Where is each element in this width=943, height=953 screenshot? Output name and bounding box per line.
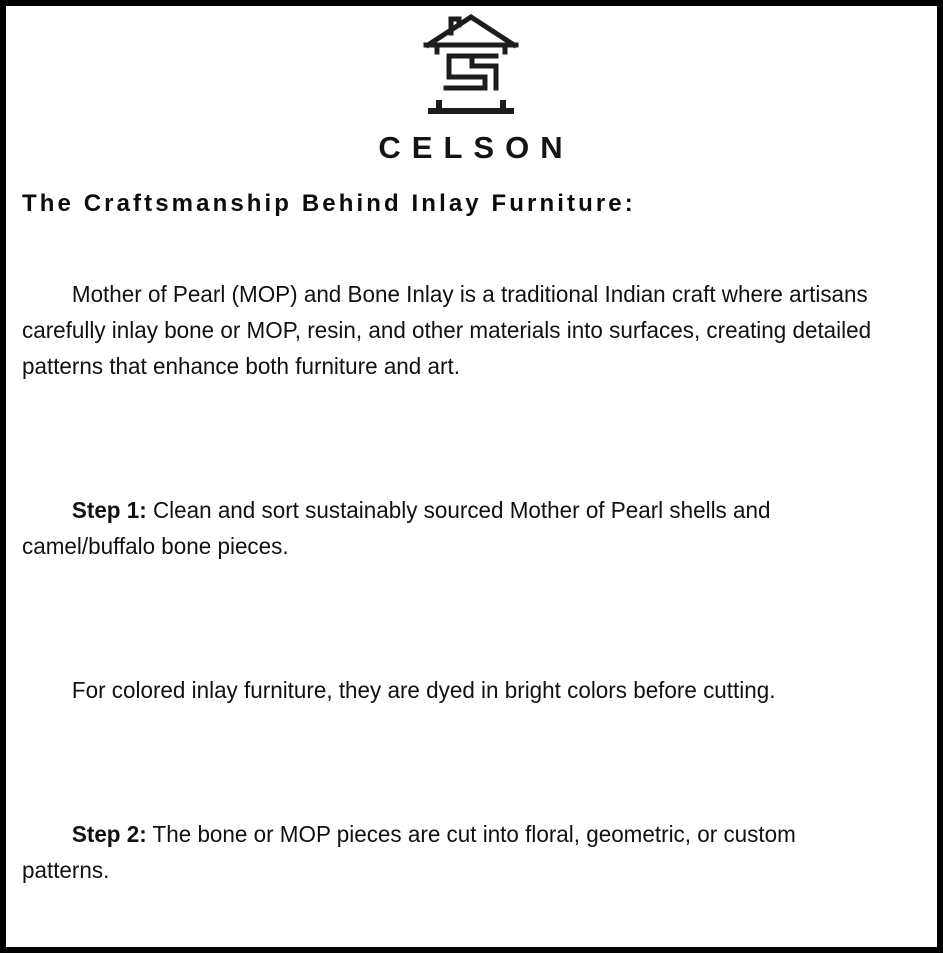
brand-header: CELSON	[17, 12, 924, 163]
paragraph-colored-inlay-note: For colored inlay furniture, they are dy…	[22, 636, 882, 744]
house-monogram-logo-icon	[422, 14, 520, 118]
paragraph-text: Mother of Pearl (MOP) and Bone Inlay is …	[22, 281, 877, 379]
page-content-area: CELSON The Craftsmanship Behind Inlay Fu…	[6, 6, 937, 947]
page-title: The Craftsmanship Behind Inlay Furniture…	[22, 190, 924, 218]
brand-name: CELSON	[17, 132, 924, 163]
paragraph-text: For colored inlay furniture, they are dy…	[72, 677, 776, 703]
paragraph-lead: Step 2:	[72, 821, 147, 847]
poster-page: CELSON The Craftsmanship Behind Inlay Fu…	[0, 0, 943, 953]
paragraph-lead: Step 1:	[72, 497, 147, 523]
article-body: Mother of Pearl (MOP) and Bone Inlay is …	[22, 240, 922, 953]
paragraph-step-2: Step 2: The bone or MOP pieces are cut i…	[22, 780, 882, 924]
paragraph-intro: Mother of Pearl (MOP) and Bone Inlay is …	[22, 240, 882, 420]
paragraph-step-1: Step 1: Clean and sort sustainably sourc…	[22, 456, 882, 600]
